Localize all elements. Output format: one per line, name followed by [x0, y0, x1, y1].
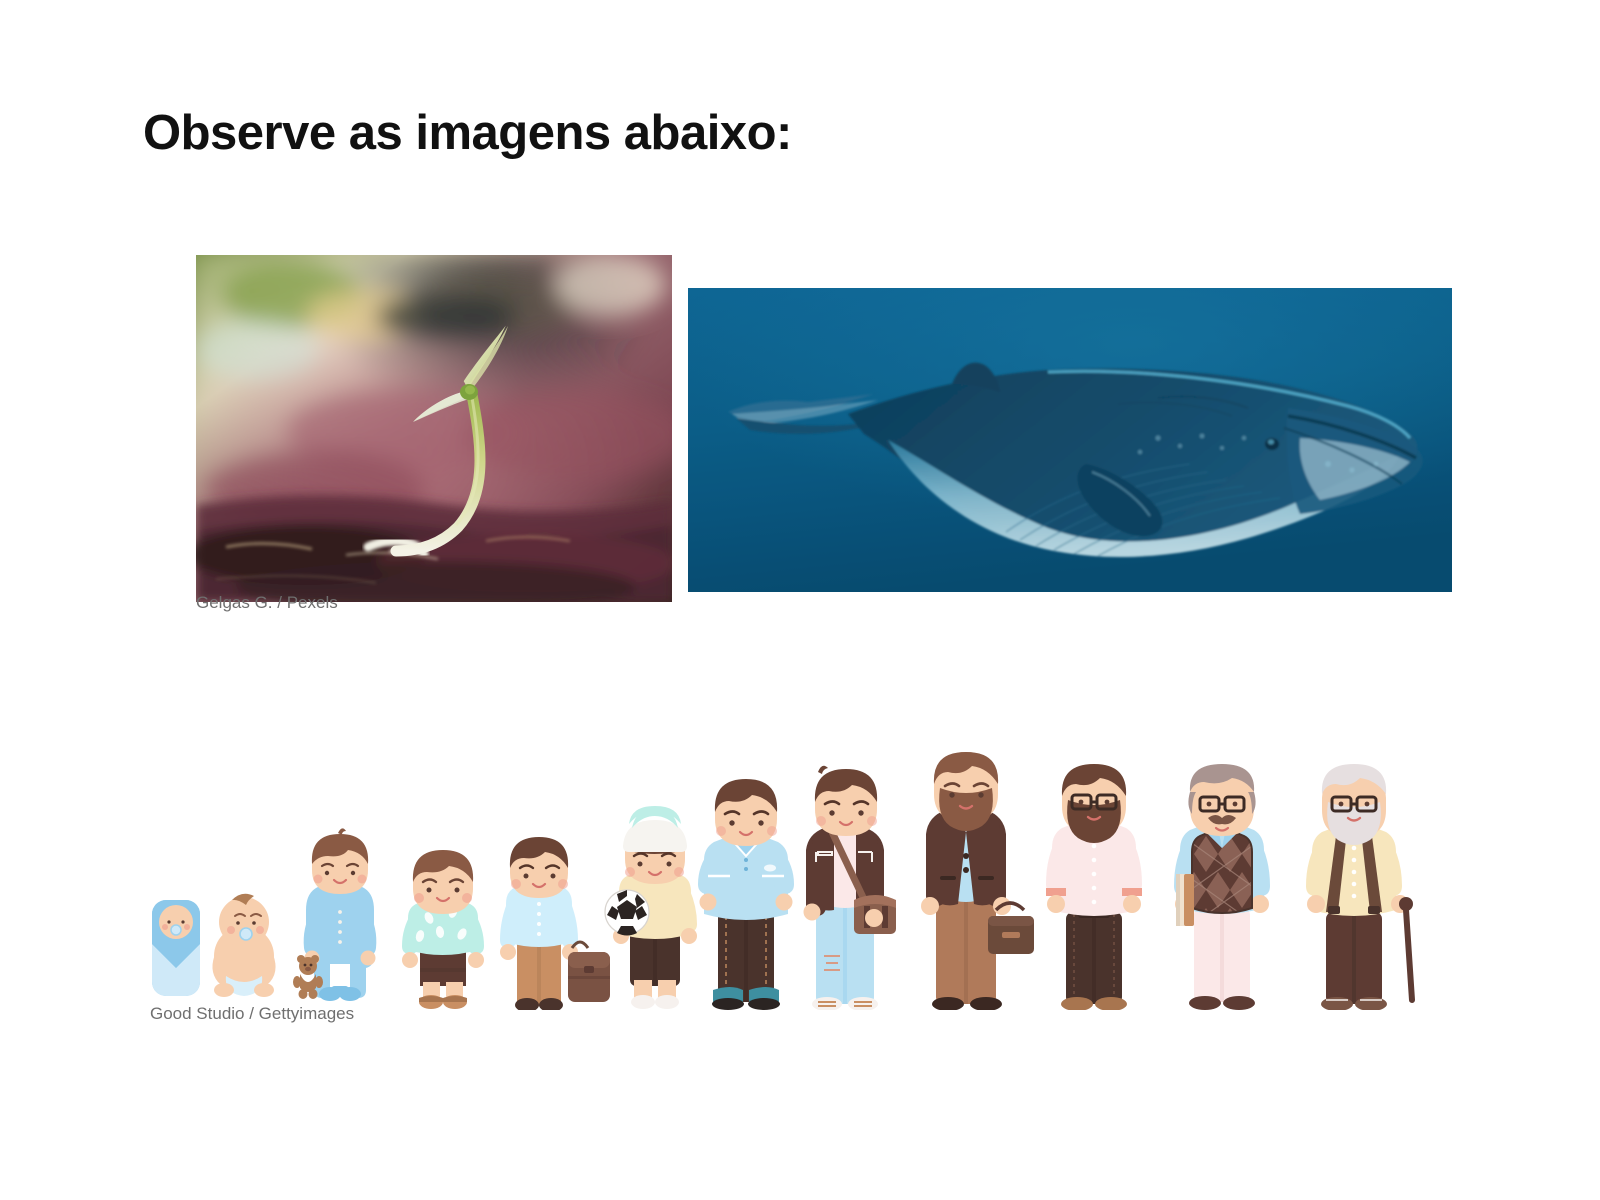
- page-title: Observe as imagens abaixo:: [143, 105, 792, 161]
- stage-teen: [698, 779, 794, 1010]
- whale-photo: [688, 288, 1452, 592]
- stage-adult-man: [921, 752, 1034, 1010]
- stage-baby: [212, 894, 275, 997]
- ages-caption: Good Studio / Gettyimages: [150, 1004, 354, 1024]
- stage-preschool: [402, 850, 484, 1009]
- stage-schoolboy: [500, 837, 610, 1010]
- book: [1176, 874, 1194, 926]
- slide-canvas: Observe as imagens abaixo:: [0, 0, 1600, 1200]
- sprout-caption: Gelgas G. / Pexels: [196, 593, 338, 613]
- stage-young-man: [804, 766, 897, 1010]
- stage-mature-man: [1046, 764, 1142, 1010]
- sprout-photo: [196, 255, 672, 602]
- ages-illustration: [140, 660, 1460, 1010]
- stage-boy-ball: [605, 806, 699, 1009]
- stage-newborn: [152, 900, 200, 996]
- sprout-photo-graphic: [196, 255, 672, 602]
- stage-senior-man: [1174, 764, 1270, 1010]
- whale-photo-graphic: [688, 288, 1452, 592]
- stage-elder-man: [1306, 764, 1413, 1010]
- stage-toddler: [293, 828, 376, 1001]
- ages-illustration-graphic: [140, 660, 1460, 1010]
